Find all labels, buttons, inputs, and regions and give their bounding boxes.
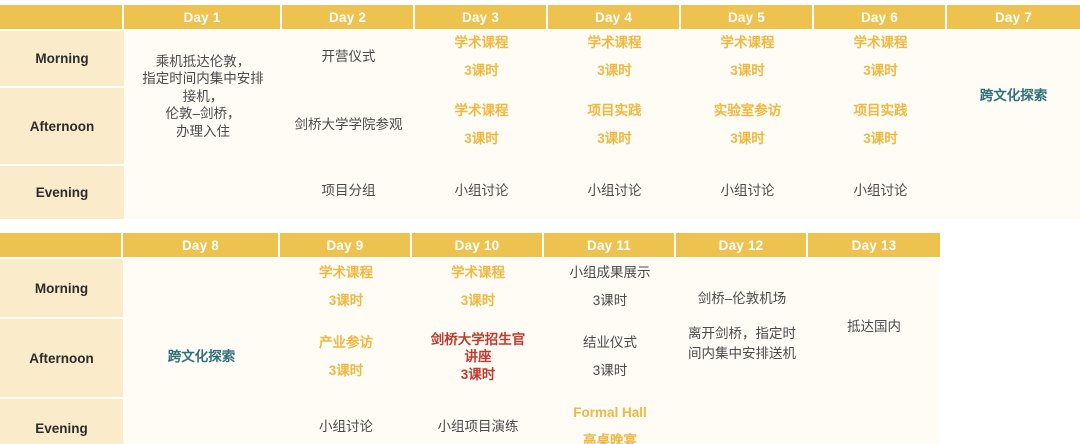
header-day-13: Day 13 xyxy=(808,233,940,257)
cell-day12-evening xyxy=(676,397,808,444)
header-day-1: Day 1 xyxy=(124,5,282,29)
table-header-row: Day 8 Day 9 Day 10 Day 11 Day 12 Day 13 xyxy=(0,233,1080,257)
day9-morning-activity: 学术课程3课时 xyxy=(284,263,408,312)
cell-day2-afternoon: 剑桥大学学院参观 xyxy=(282,86,415,164)
cell-day5-afternoon: 实验室参访3课时 xyxy=(681,86,814,164)
cell-day3-afternoon: 学术课程3课时 xyxy=(415,86,548,164)
header-corner-cell xyxy=(0,233,123,257)
day12-activity: 剑桥–伦敦机场 离开剑桥，指定时 间内集中安排送机 xyxy=(680,289,804,366)
day6-afternoon-activity: 项目实践3课时 xyxy=(818,101,943,150)
table-header-row: Day 1 Day 2 Day 3 Day 4 Day 5 Day 6 Day … xyxy=(0,5,1080,29)
row-label-morning: Morning xyxy=(0,257,123,317)
header-spacer xyxy=(940,233,1080,257)
schedule-page: Day 1 Day 2 Day 3 Day 4 Day 5 Day 6 Day … xyxy=(0,0,1080,444)
row-label-evening: Evening xyxy=(0,164,124,219)
cell-day12-departure: 剑桥–伦敦机场 离开剑桥，指定时 间内集中安排送机 xyxy=(676,257,808,397)
cell-day4-evening: 小组讨论 xyxy=(548,164,681,219)
header-day-11: Day 11 xyxy=(544,233,676,257)
header-day-7: Day 7 xyxy=(947,5,1080,29)
day8-activity: 跨文化探索 xyxy=(168,349,236,364)
cell-day9-evening: 小组讨论 xyxy=(280,397,412,444)
cell-day5-morning: 学术课程3课时 xyxy=(681,29,814,86)
cell-day3-morning: 学术课程3课时 xyxy=(415,29,548,86)
cell-day9-morning: 学术课程3课时 xyxy=(280,257,412,317)
day13-activity: 抵达国内 xyxy=(847,319,901,334)
day1-line-4: 伦敦–剑桥， xyxy=(128,105,278,123)
schedule-table-week-2: Day 8 Day 9 Day 10 Day 11 Day 12 Day 13 … xyxy=(0,233,1080,444)
day1-line-1: 乘机抵达伦敦， xyxy=(128,53,278,71)
day6-morning-activity: 学术课程3课时 xyxy=(818,33,943,82)
cell-day1-evening xyxy=(124,164,282,219)
cell-day11-morning: 小组成果展示3课时 xyxy=(544,257,676,317)
day1-line-5: 办理入住 xyxy=(128,123,278,141)
cell-day10-evening: 小组项目演练 xyxy=(412,397,544,444)
day9-afternoon-activity: 产业参访3课时 xyxy=(284,333,408,382)
cell-day4-afternoon: 项目实践3课时 xyxy=(548,86,681,164)
day5-morning-activity: 学术课程3课时 xyxy=(685,33,810,82)
day1-line-3: 接机， xyxy=(128,88,278,106)
cell-day6-morning: 学术课程3课时 xyxy=(814,29,947,86)
row-label-evening: Evening xyxy=(0,397,123,444)
day11-afternoon-activity: 结业仪式3课时 xyxy=(548,333,672,382)
day3-afternoon-activity: 学术课程3课时 xyxy=(419,101,544,150)
cell-day1-arrival: 乘机抵达伦敦， 指定时间内集中安排 接机， 伦敦–剑桥， 办理入住 xyxy=(124,29,282,164)
header-day-10: Day 10 xyxy=(412,233,544,257)
cell-day6-evening: 小组讨论 xyxy=(814,164,947,219)
header-day-9: Day 9 xyxy=(280,233,412,257)
cell-day13-evening xyxy=(808,397,940,444)
cell-day6-afternoon: 项目实践3课时 xyxy=(814,86,947,164)
table-row-morning: Morning 跨文化探索 学术课程3课时 学术课程3课时 小组成果展示 xyxy=(0,257,1080,317)
cell-day9-afternoon: 产业参访3课时 xyxy=(280,317,412,397)
cell-day11-evening: Formal Hall高桌晚宴 xyxy=(544,397,676,444)
day4-morning-activity: 学术课程3课时 xyxy=(552,33,677,82)
day5-afternoon-activity: 实验室参访3课时 xyxy=(685,101,810,150)
table-row-evening: Evening 项目分组 小组讨论 小组讨论 小组讨论 小组讨论 xyxy=(0,164,1080,219)
day11-morning-activity: 小组成果展示3课时 xyxy=(548,263,672,312)
cell-day7-evening xyxy=(947,164,1080,219)
day4-afternoon-activity: 项目实践3课时 xyxy=(552,101,677,150)
row-label-morning: Morning xyxy=(0,29,124,86)
table-row-morning: Morning 乘机抵达伦敦， 指定时间内集中安排 接机， 伦敦–剑桥， 办理入… xyxy=(0,29,1080,86)
day10-morning-activity: 学术课程3课时 xyxy=(416,263,540,312)
cell-day10-afternoon: 剑桥大学招生官 讲座 3课时 xyxy=(412,317,544,397)
header-day-2: Day 2 xyxy=(282,5,415,29)
cell-day3-evening: 小组讨论 xyxy=(415,164,548,219)
header-day-4: Day 4 xyxy=(548,5,681,29)
day10-afternoon-activity: 剑桥大学招生官 讲座 3课时 xyxy=(416,331,540,384)
cell-day5-evening: 小组讨论 xyxy=(681,164,814,219)
cell-day8-cross-cultural: 跨文化探索 xyxy=(123,257,280,444)
cell-day13-arrival-home: 抵达国内 xyxy=(808,257,940,397)
cell-day11-afternoon: 结业仪式3课时 xyxy=(544,317,676,397)
cell-day2-evening: 项目分组 xyxy=(282,164,415,219)
day3-morning-activity: 学术课程3课时 xyxy=(419,33,544,82)
table-spacer xyxy=(940,257,1080,444)
row-label-afternoon: Afternoon xyxy=(0,86,124,164)
header-day-3: Day 3 xyxy=(415,5,548,29)
header-day-6: Day 6 xyxy=(814,5,947,29)
cell-day7-cross-cultural: 跨文化探索 xyxy=(947,29,1080,164)
cell-day2-morning: 开营仪式 xyxy=(282,29,415,86)
day7-activity: 跨文化探索 xyxy=(980,88,1048,103)
header-day-8: Day 8 xyxy=(123,233,280,257)
day1-line-2: 指定时间内集中安排 xyxy=(128,70,278,88)
header-day-12: Day 12 xyxy=(676,233,808,257)
header-day-5: Day 5 xyxy=(681,5,814,29)
schedule-table-week-1: Day 1 Day 2 Day 3 Day 4 Day 5 Day 6 Day … xyxy=(0,5,1080,219)
cell-day10-morning: 学术课程3课时 xyxy=(412,257,544,317)
cell-day4-morning: 学术课程3课时 xyxy=(548,29,681,86)
row-label-afternoon: Afternoon xyxy=(0,317,123,397)
header-corner-cell xyxy=(0,5,124,29)
day11-evening-activity: Formal Hall高桌晚宴 xyxy=(548,403,672,444)
